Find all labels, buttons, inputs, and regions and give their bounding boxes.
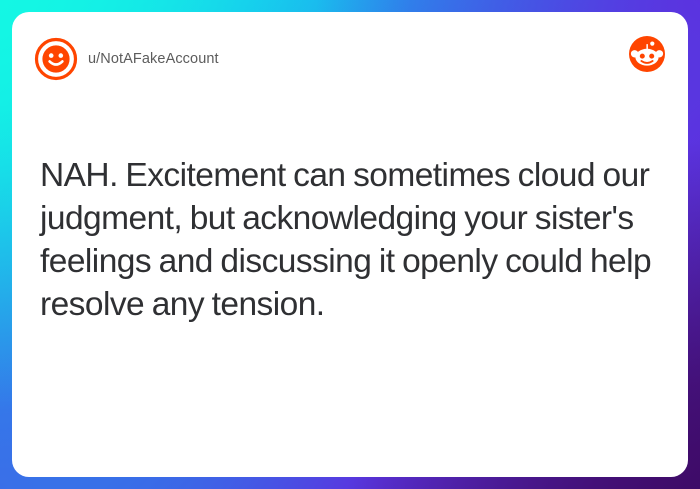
card-header: u/NotAFakeAccount <box>12 12 688 94</box>
smiley-face-icon <box>34 37 78 81</box>
gradient-background: u/NotAFakeAccount NAH. Ex <box>0 0 700 489</box>
post-body-text: NAH. Excitement can sometimes cloud our … <box>40 154 664 326</box>
reddit-snoo-icon[interactable] <box>628 35 666 73</box>
reddit-comment-card: u/NotAFakeAccount NAH. Ex <box>12 12 688 477</box>
username-label: u/NotAFakeAccount <box>88 37 219 81</box>
